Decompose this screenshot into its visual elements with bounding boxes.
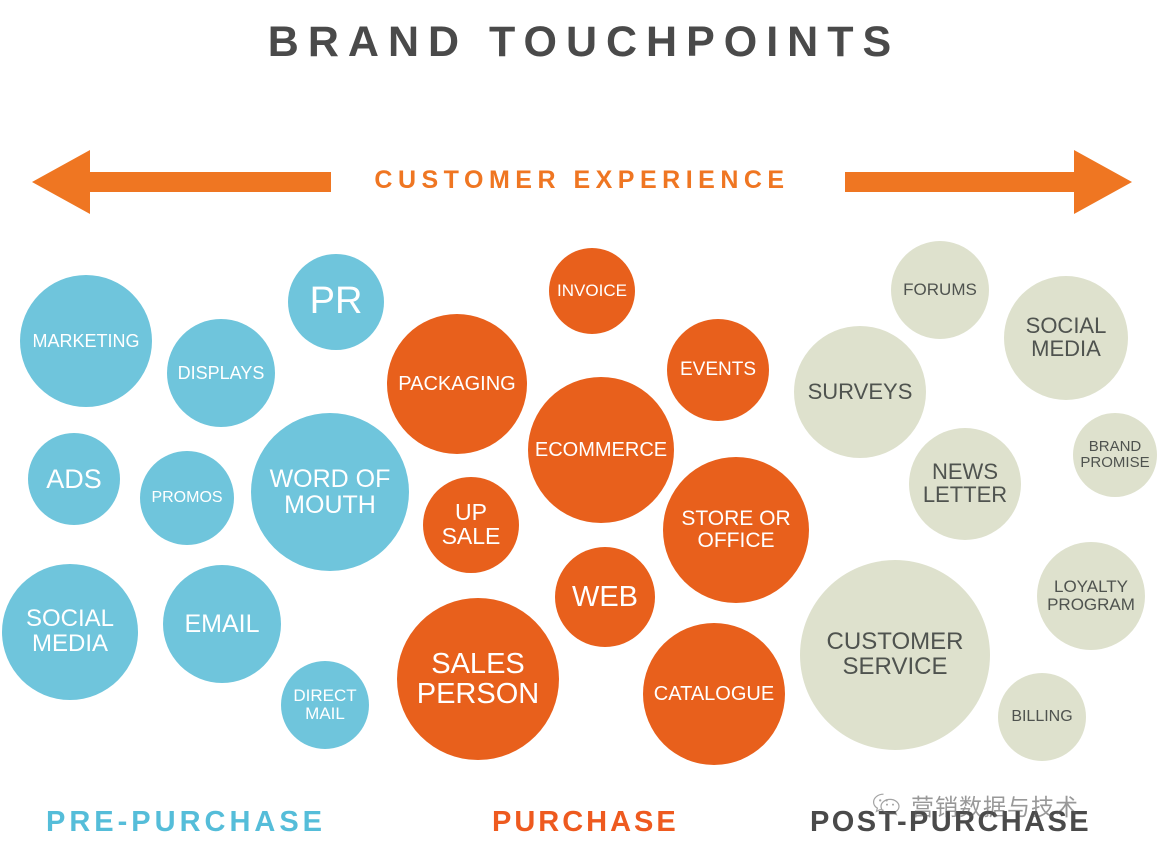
touchpoint-label: CATALOGUE	[650, 684, 778, 705]
touchpoint-bubble-invoice[interactable]: INVOICE	[549, 248, 635, 334]
touchpoint-label: STORE OR OFFICE	[663, 508, 809, 552]
touchpoint-label: ECOMMERCE	[531, 440, 671, 461]
touchpoint-label: SALES PERSON	[397, 649, 559, 709]
touchpoint-label: EVENTS	[676, 360, 760, 380]
touchpoint-label: MARKETING	[28, 332, 143, 351]
touchpoint-bubble-catalogue[interactable]: CATALOGUE	[643, 623, 785, 765]
touchpoint-label: EMAIL	[180, 611, 263, 637]
touchpoint-label: ADS	[42, 465, 106, 493]
touchpoint-label: INVOICE	[553, 282, 631, 300]
touchpoint-bubble-customer-service[interactable]: CUSTOMER SERVICE	[800, 560, 990, 750]
wechat-icon	[872, 792, 902, 818]
infographic-canvas: BRAND TOUCHPOINTS CUSTOMER EXPERIENCE MA…	[0, 0, 1168, 855]
touchpoint-bubble-ads[interactable]: ADS	[28, 433, 120, 525]
touchpoint-bubble-marketing[interactable]: MARKETING	[20, 275, 152, 407]
touchpoint-label: NEWS LETTER	[909, 461, 1021, 507]
touchpoint-label: WORD OF MOUTH	[251, 466, 409, 518]
touchpoint-bubble-direct-mail[interactable]: DIRECT MAIL	[281, 661, 369, 749]
touchpoint-label: WEB	[568, 582, 642, 612]
stage-label-pre-purchase: PRE-PURCHASE	[46, 806, 326, 839]
touchpoint-bubble-news-letter[interactable]: NEWS LETTER	[909, 428, 1021, 540]
touchpoint-bubble-displays[interactable]: DISPLAYS	[167, 319, 275, 427]
touchpoint-bubble-billing[interactable]: BILLING	[998, 673, 1086, 761]
watermark: 营销数据与技术	[872, 788, 1079, 822]
touchpoint-bubble-social-media[interactable]: SOCIAL MEDIA	[1004, 276, 1128, 400]
touchpoint-bubble-field: MARKETINGDISPLAYSPRADSPROMOSWORD OF MOUT…	[0, 0, 1168, 800]
touchpoint-bubble-loyalty-program[interactable]: LOYALTY PROGRAM	[1037, 542, 1145, 650]
touchpoint-label: SOCIAL MEDIA	[1004, 315, 1128, 361]
touchpoint-bubble-word-of-mouth[interactable]: WORD OF MOUTH	[251, 413, 409, 571]
touchpoint-bubble-store-or-office[interactable]: STORE OR OFFICE	[663, 457, 809, 603]
touchpoint-label: BILLING	[1007, 709, 1076, 726]
touchpoint-label: DISPLAYS	[174, 364, 269, 383]
touchpoint-bubble-surveys[interactable]: SURVEYS	[794, 326, 926, 458]
touchpoint-bubble-web[interactable]: WEB	[555, 547, 655, 647]
touchpoint-bubble-forums[interactable]: FORUMS	[891, 241, 989, 339]
touchpoint-bubble-up-sale[interactable]: UP SALE	[423, 477, 519, 573]
touchpoint-label: UP SALE	[423, 501, 519, 549]
touchpoint-label: BRAND PROMISE	[1073, 439, 1157, 470]
touchpoint-label: PACKAGING	[394, 374, 519, 395]
touchpoint-label: CUSTOMER SERVICE	[800, 630, 990, 680]
touchpoint-bubble-packaging[interactable]: PACKAGING	[387, 314, 527, 454]
touchpoint-bubble-email[interactable]: EMAIL	[163, 565, 281, 683]
stage-label-purchase: PURCHASE	[492, 806, 679, 839]
touchpoint-bubble-sales-person[interactable]: SALES PERSON	[397, 598, 559, 760]
touchpoint-label: LOYALTY PROGRAM	[1037, 578, 1145, 613]
touchpoint-bubble-brand-promise[interactable]: BRAND PROMISE	[1073, 413, 1157, 497]
touchpoint-bubble-events[interactable]: EVENTS	[667, 319, 769, 421]
touchpoint-bubble-ecommerce[interactable]: ECOMMERCE	[528, 377, 674, 523]
touchpoint-label: DIRECT MAIL	[281, 687, 369, 722]
touchpoint-bubble-social-media[interactable]: SOCIAL MEDIA	[2, 564, 138, 700]
touchpoint-label: SOCIAL MEDIA	[2, 607, 138, 657]
touchpoint-bubble-promos[interactable]: PROMOS	[140, 451, 234, 545]
watermark-text: 营销数据与技术	[911, 788, 1079, 822]
touchpoint-label: PR	[306, 282, 367, 322]
touchpoint-bubble-pr[interactable]: PR	[288, 254, 384, 350]
touchpoint-label: FORUMS	[899, 281, 981, 299]
touchpoint-label: SURVEYS	[804, 381, 917, 404]
touchpoint-label: PROMOS	[147, 490, 226, 507]
